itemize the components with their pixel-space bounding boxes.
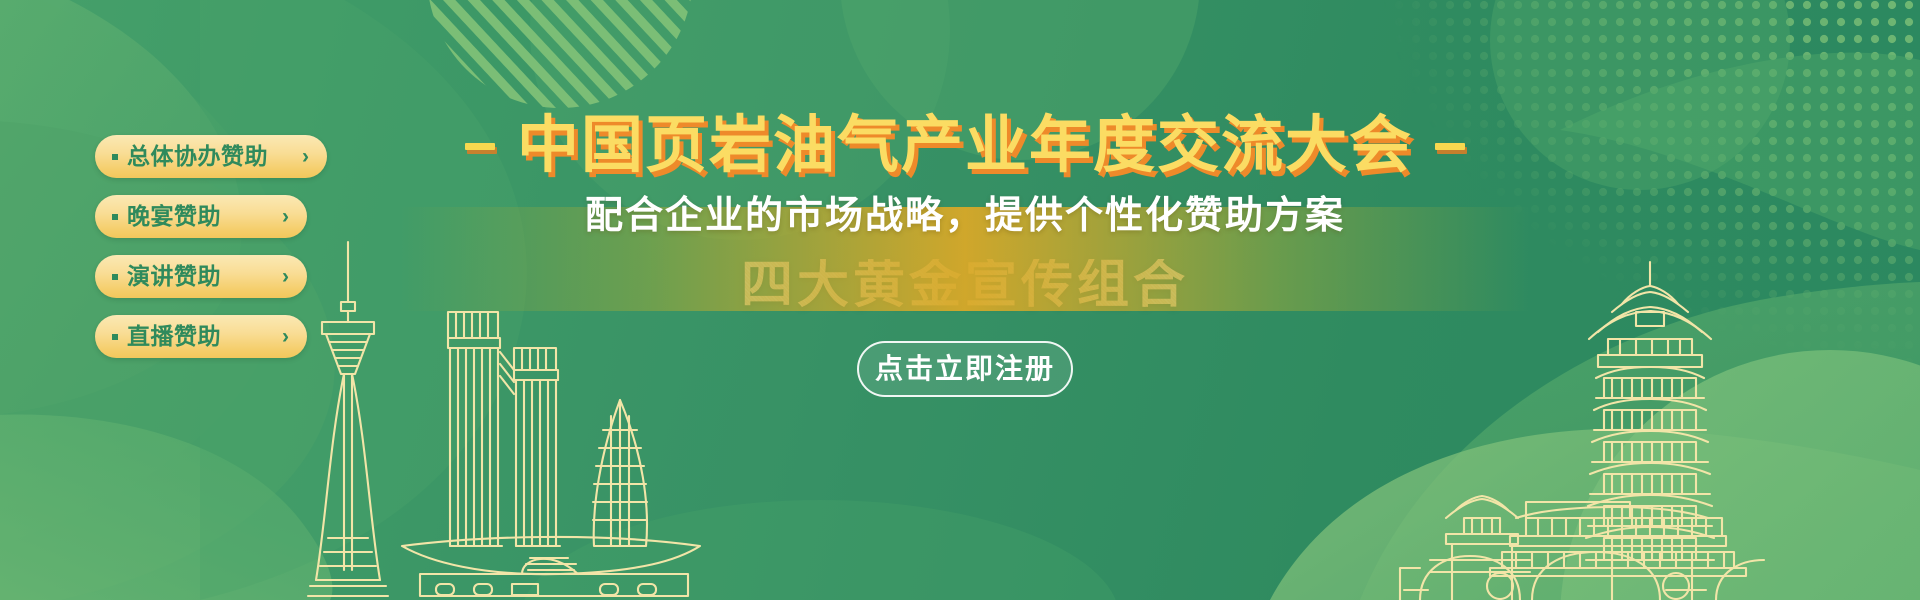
sponsor-pill-livestream[interactable]: 直播赞助 ›	[95, 315, 307, 358]
page-title: 中国页岩油气产业年度交流大会	[517, 115, 1413, 177]
chevron-right-icon: ›	[270, 326, 289, 347]
square-bullet-icon	[112, 274, 118, 280]
title-dash-left-icon	[465, 143, 495, 150]
sponsor-pill-label: 直播赞助	[127, 325, 221, 348]
hero-content: 中国页岩油气产业年度交流大会 配合企业的市场战略，提供个性化赞助方案 四大黄金宣…	[430, 0, 1500, 600]
blob-right-lower	[1560, 350, 1920, 600]
sponsor-pill-dinner[interactable]: 晚宴赞助 ›	[95, 195, 307, 238]
sponsor-pill-label: 演讲赞助	[127, 265, 221, 288]
sponsor-pill-label: 总体协办赞助	[127, 145, 268, 168]
hero-subtitle: 配合企业的市场战略，提供个性化赞助方案	[585, 197, 1345, 235]
square-bullet-icon	[112, 154, 118, 160]
register-button[interactable]: 点击立即注册	[857, 341, 1073, 397]
chevron-right-icon: ›	[270, 266, 289, 287]
title-dash-right-icon	[1435, 143, 1465, 150]
square-bullet-icon	[112, 334, 118, 340]
register-button-label: 点击立即注册	[875, 355, 1055, 383]
soft-circle-right	[1490, 0, 1790, 190]
blob-left-lower	[0, 414, 332, 600]
hill-right-top	[1560, 53, 1920, 250]
sponsor-pill-speech[interactable]: 演讲赞助 ›	[95, 255, 307, 298]
sponsor-pill-label: 晚宴赞助	[127, 205, 221, 228]
pagoda-tower-icon	[1586, 262, 1714, 600]
sponsor-menu: 总体协办赞助 › 晚宴赞助 › 演讲赞助 › 直播赞助 ›	[95, 135, 327, 358]
sponsor-pill-overall[interactable]: 总体协办赞助 ›	[95, 135, 327, 178]
chevron-right-icon: ›	[288, 146, 309, 167]
square-bullet-icon	[112, 214, 118, 220]
title-row: 中国页岩油气产业年度交流大会	[465, 115, 1465, 177]
chevron-right-icon: ›	[270, 206, 289, 227]
sponsorship-banner: 总体协办赞助 › 晚宴赞助 › 演讲赞助 › 直播赞助 › 中国页岩油气产业年度…	[0, 0, 1920, 600]
